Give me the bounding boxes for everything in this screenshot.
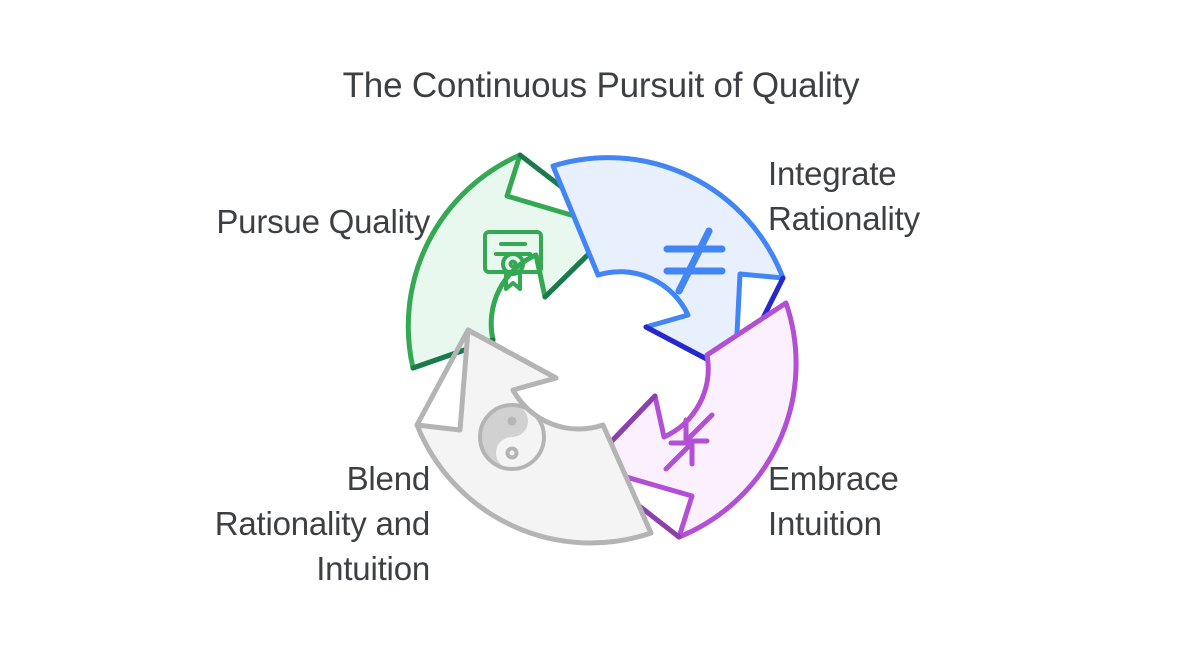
segment-label-pursue-quality: Pursue Quality (30, 200, 430, 245)
segment-label-integrate-rationality: Integrate Rationality (768, 152, 1168, 242)
segment-label-embrace-intuition: Embrace Intuition (768, 457, 1168, 547)
diagram-canvas: The Continuous Pursuit of Quality (0, 0, 1202, 666)
segment-label-blend-rationality-intuition: Blend Rationality and Intuition (30, 457, 430, 592)
